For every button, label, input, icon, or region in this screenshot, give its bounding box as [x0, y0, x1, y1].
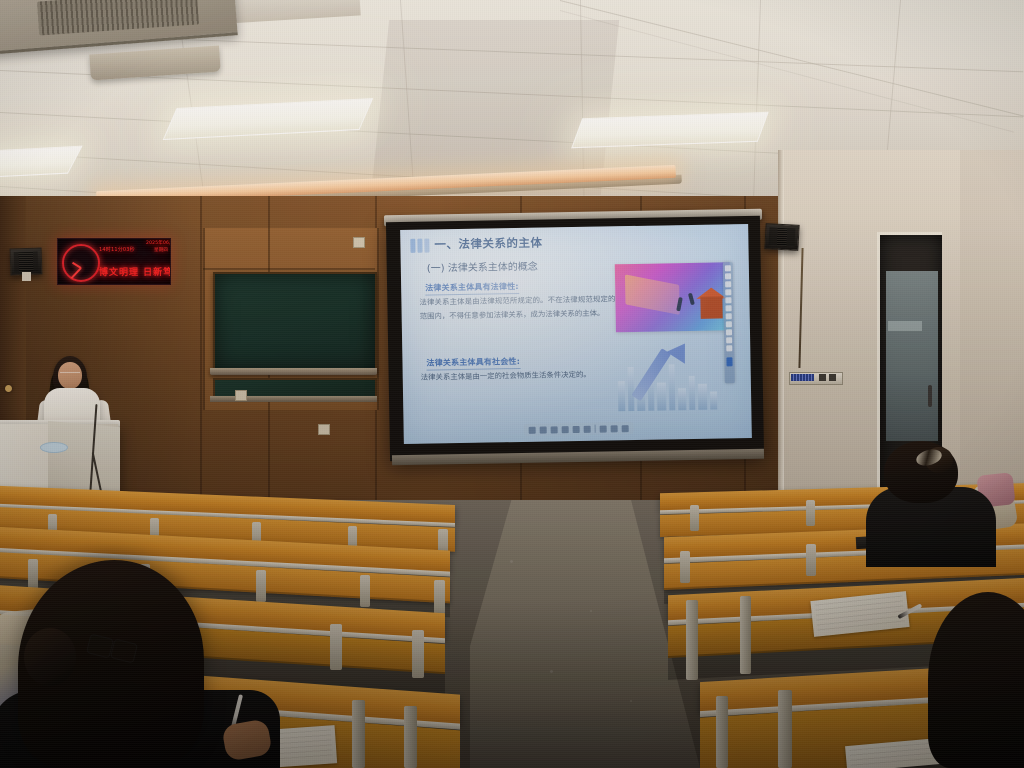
speaker-mount-left: [22, 272, 31, 281]
control-panel-switches[interactable]: [791, 374, 814, 381]
instructor-glasses: [60, 372, 80, 378]
highlighter-icon[interactable]: [551, 426, 558, 433]
student-foreground-hair-bun: [24, 628, 76, 686]
panel-seam-horizontal: [203, 268, 375, 270]
wall-speaker-right: [764, 223, 799, 251]
slide-image-growth-arrow-city: [607, 337, 738, 417]
slide-title-bars-icon: [410, 239, 429, 253]
zoom-icon[interactable]: [573, 425, 580, 432]
wall-outlet-3[interactable]: [318, 424, 330, 435]
presentation-slide[interactable]: 一、法律关系的主体 (一) 法律关系主体的概念 法律关系主体具有法律性: 法律关…: [400, 224, 752, 444]
slide-side-toolbar[interactable]: [723, 262, 735, 383]
door-glass-reflection: [888, 321, 922, 331]
wall-outlet-1[interactable]: [353, 237, 365, 248]
toolbar-divider: [595, 425, 596, 433]
left-door-knob[interactable]: [5, 385, 12, 392]
led-slogan-text: 博文明理 日新笃行: [99, 265, 171, 278]
play-icon[interactable]: [529, 426, 536, 433]
led-weekday-text: 星期四: [154, 249, 168, 254]
pen-icon[interactable]: [540, 426, 547, 433]
grid-icon[interactable]: [584, 425, 591, 432]
student-foreground-glasses: [88, 632, 136, 658]
slide-body-2: 法律关系主体是由一定的社会物质生活条件决定的。: [421, 367, 617, 384]
list-icon[interactable]: [600, 425, 607, 432]
chalk-tray: [210, 368, 377, 375]
podium-label: [40, 442, 68, 453]
classroom-photo: 14时11分03秒 2025年06月26日 星期四 博文明理 日新笃行 一、法律…: [0, 0, 1024, 768]
door-glass-panel: [886, 271, 938, 441]
slide-title: 一、法律关系的主体: [434, 235, 542, 253]
presentation-toolbar[interactable]: [524, 422, 634, 436]
led-clock-sign: 14时11分03秒 2025年06月26日 星期四 博文明理 日新笃行: [57, 238, 171, 285]
control-panel-button-2[interactable]: [829, 374, 836, 381]
more-icon[interactable]: [622, 425, 629, 432]
slides-icon[interactable]: [611, 425, 618, 432]
led-date-text: 2025年06月26日: [146, 242, 171, 247]
chalkboard[interactable]: [213, 272, 377, 372]
wall-outlet-2[interactable]: [235, 390, 247, 401]
control-panel-button-1[interactable]: [819, 374, 826, 381]
analog-clock-icon: [62, 244, 100, 282]
door-handle[interactable]: [928, 385, 932, 407]
slide-image-credit-card-house: [615, 262, 731, 332]
pointer-icon[interactable]: [562, 426, 569, 433]
slide-subtitle: (一) 法律关系主体的概念: [427, 258, 538, 275]
led-time-text: 14时11分03秒: [99, 248, 135, 253]
slide-body-1: 法律关系主体是由法律规范所规定的。不在法律规范规定的范围内，不得任意参加法律关系…: [419, 292, 615, 323]
